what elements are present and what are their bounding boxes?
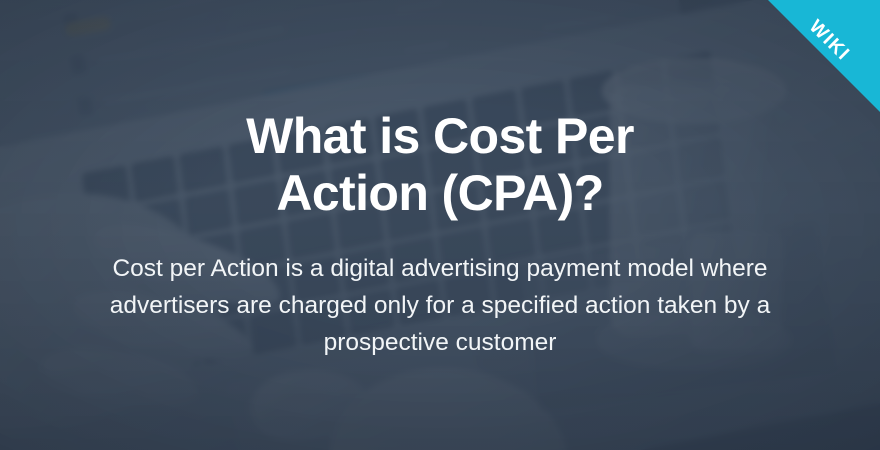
- wiki-banner: WIKI What is Cost Per Action (CPA)? Cost…: [0, 0, 880, 450]
- page-subtitle: Cost per Action is a digital advertising…: [95, 250, 785, 361]
- page-title: What is Cost Per Action (CPA)?: [170, 108, 710, 222]
- banner-content: What is Cost Per Action (CPA)? Cost per …: [0, 0, 880, 450]
